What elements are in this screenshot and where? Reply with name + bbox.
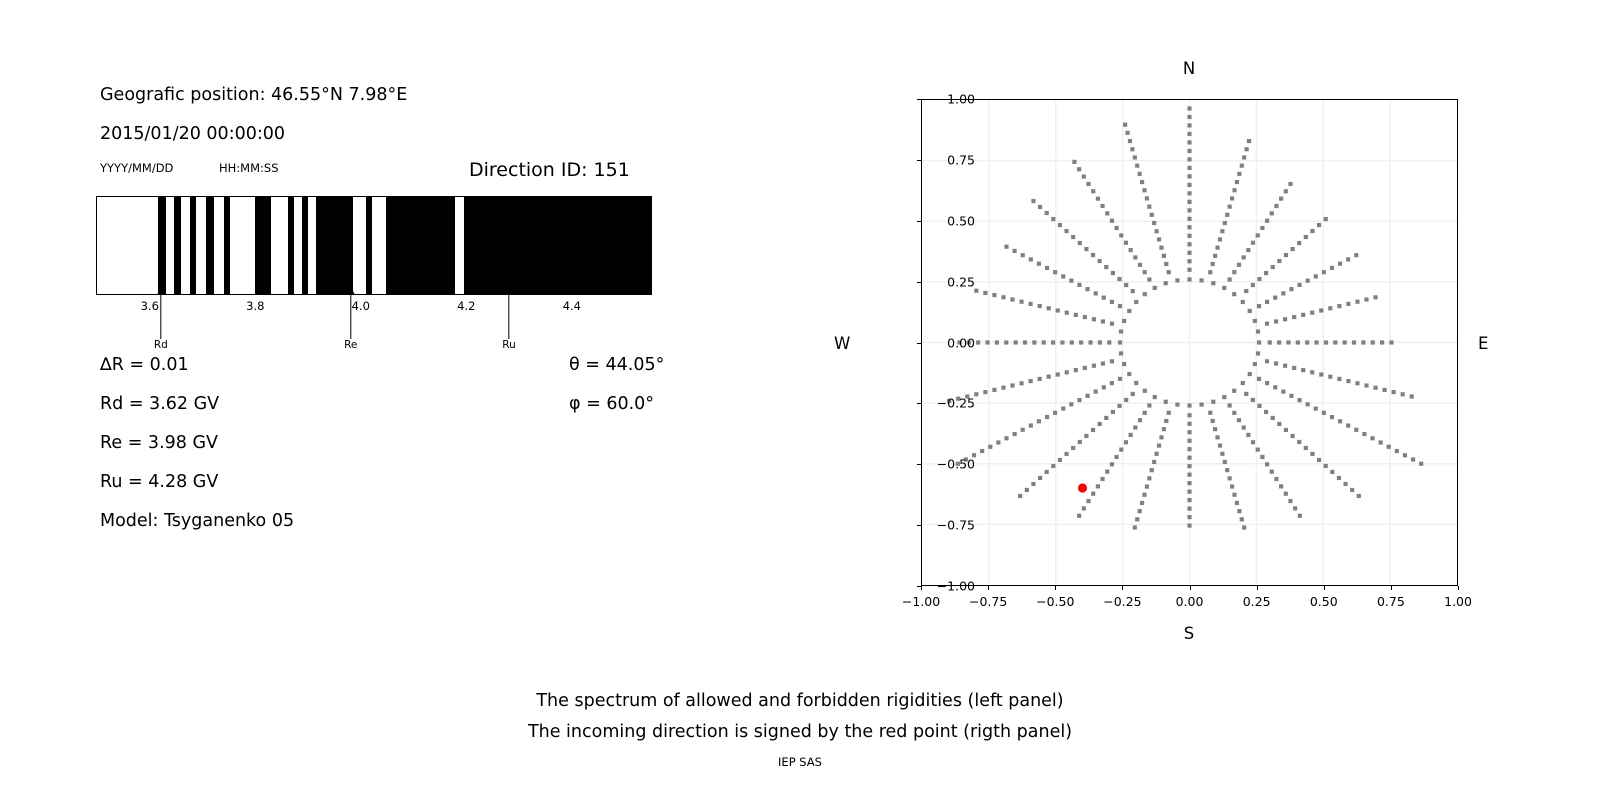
direction-y-tick-mark bbox=[917, 99, 921, 100]
direction-point bbox=[1157, 443, 1161, 447]
direction-point bbox=[1317, 458, 1321, 462]
direction-point bbox=[1389, 340, 1393, 344]
direction-point bbox=[1124, 440, 1128, 444]
direction-point bbox=[1240, 164, 1244, 168]
direction-point bbox=[1070, 340, 1074, 344]
direction-point bbox=[1257, 377, 1261, 381]
direction-y-tick-label: −0.25 bbox=[937, 396, 975, 411]
direction-point bbox=[1124, 283, 1128, 287]
direction-point bbox=[1038, 205, 1042, 209]
direction-point bbox=[1133, 255, 1137, 259]
direction-point bbox=[1138, 509, 1142, 513]
direction-point bbox=[1029, 257, 1033, 261]
direction-point bbox=[1021, 253, 1025, 257]
compass-east-label: E bbox=[1478, 334, 1488, 353]
direction-point bbox=[1228, 277, 1232, 281]
direction-point bbox=[1134, 300, 1138, 304]
direction-point bbox=[1131, 289, 1135, 293]
direction-point bbox=[1237, 418, 1241, 422]
direction-point bbox=[1215, 435, 1219, 439]
direction-point bbox=[1284, 428, 1288, 432]
direction-point bbox=[1031, 199, 1035, 203]
direction-point bbox=[1077, 514, 1081, 518]
direction-point bbox=[1164, 262, 1168, 266]
direction-x-tick-label: 0.75 bbox=[1377, 594, 1405, 609]
direction-x-tick-mark bbox=[988, 586, 989, 590]
direction-point bbox=[1297, 440, 1301, 444]
forbidden-band bbox=[158, 197, 166, 294]
direction-point bbox=[1237, 172, 1241, 176]
direction-point bbox=[1129, 248, 1133, 252]
direction-point bbox=[1098, 259, 1102, 263]
direction-point bbox=[1147, 476, 1151, 480]
direction-point bbox=[1056, 308, 1060, 312]
direction-point bbox=[1265, 300, 1269, 304]
direction-point bbox=[1018, 494, 1022, 498]
direction-point bbox=[1305, 340, 1309, 344]
direction-point bbox=[1042, 340, 1046, 344]
direction-y-tick-mark bbox=[917, 525, 921, 526]
direction-point bbox=[1218, 443, 1222, 447]
direction-point bbox=[1324, 340, 1328, 344]
direction-point bbox=[1187, 140, 1191, 144]
direction-x-tick-mark bbox=[1190, 586, 1191, 590]
rigidity-tick-label: 4.4 bbox=[563, 299, 581, 313]
direction-point bbox=[1270, 211, 1274, 215]
rigidity-tick-label: 4.0 bbox=[352, 299, 370, 313]
direction-point bbox=[1364, 383, 1368, 387]
direction-point bbox=[1286, 340, 1290, 344]
direction-point bbox=[1086, 182, 1090, 186]
param-delta-r: ∆R = 0.01 bbox=[100, 355, 189, 375]
direction-x-tick-label: −0.75 bbox=[969, 594, 1007, 609]
direction-point bbox=[1187, 217, 1191, 221]
marker-stem bbox=[350, 293, 351, 339]
direction-point bbox=[992, 293, 996, 297]
direction-point bbox=[1187, 174, 1191, 178]
direction-point bbox=[1051, 340, 1055, 344]
direction-point bbox=[1187, 200, 1191, 204]
param-rd: Rd = 3.62 GV bbox=[100, 394, 219, 414]
direction-point bbox=[1187, 481, 1191, 485]
direction-point bbox=[1187, 473, 1191, 477]
direction-x-tick-mark bbox=[1391, 586, 1392, 590]
direction-point bbox=[1110, 381, 1114, 385]
direction-point bbox=[1129, 433, 1133, 437]
direction-point bbox=[1014, 340, 1018, 344]
direction-point bbox=[1306, 402, 1310, 406]
direction-point bbox=[1138, 263, 1142, 267]
direction-point bbox=[1401, 392, 1405, 396]
direction-point bbox=[1124, 241, 1128, 245]
direction-point bbox=[1107, 340, 1111, 344]
footer-credit: IEP SAS bbox=[0, 755, 1600, 769]
direction-point bbox=[1333, 340, 1337, 344]
direction-point bbox=[1100, 204, 1104, 208]
direction-point bbox=[1187, 225, 1191, 229]
direction-point bbox=[1077, 283, 1081, 287]
direction-point bbox=[1208, 270, 1212, 274]
direction-point bbox=[1346, 423, 1350, 427]
direction-point bbox=[1038, 377, 1042, 381]
direction-point bbox=[1187, 456, 1191, 460]
direction-point bbox=[1079, 340, 1083, 344]
direction-point bbox=[1274, 204, 1278, 208]
direction-x-tick-label: −1.00 bbox=[902, 594, 940, 609]
direction-point bbox=[1297, 283, 1301, 287]
direction-point bbox=[1142, 188, 1146, 192]
marker-label: Rd bbox=[154, 339, 168, 351]
direction-point bbox=[1085, 287, 1089, 291]
param-ru: Ru = 4.28 GV bbox=[100, 472, 218, 492]
direction-point bbox=[1379, 440, 1383, 444]
direction-point bbox=[1274, 361, 1278, 365]
direction-point bbox=[1346, 257, 1350, 261]
rigidity-x-axis: 3.63.84.04.24.4RdReRu bbox=[96, 295, 654, 313]
direction-point bbox=[1310, 229, 1314, 233]
marker-label: Re bbox=[344, 339, 357, 351]
direction-point bbox=[1115, 226, 1119, 230]
direction-point bbox=[1138, 172, 1142, 176]
direction-point bbox=[1296, 340, 1300, 344]
rigidity-marker-re: Re bbox=[350, 287, 351, 347]
direction-point bbox=[1337, 377, 1341, 381]
direction-point bbox=[1143, 389, 1147, 393]
direction-point bbox=[1281, 390, 1285, 394]
direction-point bbox=[1240, 517, 1244, 521]
direction-point bbox=[1001, 295, 1005, 299]
direction-point bbox=[1013, 249, 1017, 253]
direction-point bbox=[1293, 506, 1297, 510]
direction-point bbox=[1283, 364, 1287, 368]
direction-point bbox=[1319, 372, 1323, 376]
direction-point bbox=[1119, 351, 1123, 355]
direction-point bbox=[995, 340, 999, 344]
direction-point bbox=[1111, 271, 1115, 275]
direction-point bbox=[1260, 455, 1264, 459]
direction-point bbox=[1004, 245, 1008, 249]
direction-point bbox=[1060, 340, 1064, 344]
forbidden-band bbox=[302, 197, 308, 294]
rigidity-bands-container bbox=[96, 196, 652, 295]
direction-point bbox=[1105, 470, 1109, 474]
direction-x-tick-mark bbox=[1458, 586, 1459, 590]
direction-point bbox=[1235, 180, 1239, 184]
direction-point bbox=[1145, 484, 1149, 488]
direction-point bbox=[1104, 265, 1108, 269]
direction-point bbox=[1277, 340, 1281, 344]
direction-point bbox=[992, 388, 996, 392]
direction-point bbox=[1395, 449, 1399, 453]
direction-point bbox=[1150, 468, 1154, 472]
direction-point bbox=[1314, 406, 1318, 410]
direction-point bbox=[1147, 205, 1151, 209]
direction-point bbox=[1058, 458, 1062, 462]
direction-point bbox=[1228, 476, 1232, 480]
direction-point bbox=[1125, 131, 1129, 135]
direction-point bbox=[1253, 319, 1257, 323]
direction-point bbox=[1228, 205, 1232, 209]
direction-point bbox=[1091, 428, 1095, 432]
direction-x-tick-mark bbox=[1257, 586, 1258, 590]
direction-y-tick-label: −1.00 bbox=[937, 579, 975, 594]
direction-point bbox=[1220, 229, 1224, 233]
direction-point bbox=[1032, 340, 1036, 344]
direction-point bbox=[1314, 340, 1318, 344]
forbidden-band bbox=[288, 197, 294, 294]
direction-x-tick-mark bbox=[1055, 586, 1056, 590]
direction-point bbox=[1247, 139, 1251, 143]
direction-point bbox=[1237, 509, 1241, 513]
direction-point bbox=[1288, 182, 1292, 186]
direction-point bbox=[1187, 523, 1191, 527]
direction-point bbox=[1105, 211, 1109, 215]
direction-point bbox=[1004, 436, 1008, 440]
direction-point bbox=[1187, 268, 1191, 272]
direction-point bbox=[1143, 270, 1147, 274]
compass-north-label: N bbox=[1183, 59, 1195, 78]
direction-point bbox=[1128, 139, 1132, 143]
direction-point bbox=[1208, 411, 1212, 415]
direction-point bbox=[1322, 270, 1326, 274]
direction-point bbox=[1131, 392, 1135, 396]
forbidden-band bbox=[316, 197, 353, 294]
direction-point bbox=[1257, 404, 1261, 408]
direction-point bbox=[1284, 189, 1288, 193]
compass-south-label: S bbox=[1184, 624, 1194, 643]
direction-point bbox=[1260, 226, 1264, 230]
direction-point bbox=[1225, 213, 1229, 217]
direction-point bbox=[1411, 457, 1415, 461]
direction-point bbox=[1138, 418, 1142, 422]
direction-point bbox=[1306, 279, 1310, 283]
direction-point bbox=[1277, 259, 1281, 263]
direction-point bbox=[1078, 440, 1082, 444]
direction-point bbox=[1157, 237, 1161, 241]
direction-point bbox=[1373, 295, 1377, 299]
direction-point bbox=[1127, 309, 1131, 313]
geographic-position: Geografic position: 46.55°N 7.98°E bbox=[100, 85, 407, 105]
direction-point bbox=[1279, 197, 1283, 201]
direction-point bbox=[1118, 377, 1122, 381]
direction-point bbox=[1304, 235, 1308, 239]
direction-point bbox=[1119, 448, 1123, 452]
direction-point bbox=[1187, 251, 1191, 255]
direction-y-tick-mark bbox=[917, 343, 921, 344]
param-phi: φ = 60.0° bbox=[569, 394, 654, 414]
direction-point bbox=[1273, 385, 1277, 389]
direction-point bbox=[1175, 403, 1179, 407]
direction-point bbox=[1045, 266, 1049, 270]
direction-point bbox=[1069, 402, 1073, 406]
direction-point bbox=[1101, 319, 1105, 323]
direction-x-tick-mark bbox=[921, 586, 922, 590]
direction-point bbox=[1211, 281, 1215, 285]
direction-point bbox=[1301, 313, 1305, 317]
direction-point bbox=[1152, 221, 1156, 225]
direction-point bbox=[1143, 411, 1147, 415]
direction-point bbox=[1284, 253, 1288, 257]
direction-point bbox=[1053, 411, 1057, 415]
direction-point bbox=[1118, 340, 1122, 344]
direction-y-tick-label: 0.25 bbox=[947, 274, 975, 289]
direction-point bbox=[1119, 233, 1123, 237]
direction-point bbox=[1110, 322, 1114, 326]
direction-point bbox=[1038, 476, 1042, 480]
direction-point bbox=[1215, 246, 1219, 250]
direction-point bbox=[1230, 196, 1234, 200]
direction-point bbox=[1355, 381, 1359, 385]
direction-point bbox=[988, 445, 992, 449]
direction-point bbox=[1187, 115, 1191, 119]
direction-point bbox=[1310, 452, 1314, 456]
direction-point bbox=[1350, 488, 1354, 492]
direction-point bbox=[1284, 492, 1288, 496]
direction-point bbox=[1324, 464, 1328, 468]
direction-point bbox=[1029, 423, 1033, 427]
direction-point bbox=[1218, 237, 1222, 241]
direction-point bbox=[1064, 452, 1068, 456]
direction-point bbox=[1242, 425, 1246, 429]
direction-point bbox=[1256, 448, 1260, 452]
direction-point bbox=[1133, 525, 1137, 529]
direction-point bbox=[1322, 411, 1326, 415]
direction-point bbox=[1223, 460, 1227, 464]
direction-point bbox=[1251, 283, 1255, 287]
direction-y-tick-label: 1.00 bbox=[947, 92, 975, 107]
forbidden-band bbox=[366, 197, 372, 294]
direction-point bbox=[1187, 498, 1191, 502]
direction-point bbox=[1248, 309, 1252, 313]
direction-point bbox=[1330, 470, 1334, 474]
direction-point bbox=[1115, 455, 1119, 459]
direction-point bbox=[1135, 164, 1139, 168]
direction-point bbox=[1242, 255, 1246, 259]
direction-point bbox=[1077, 167, 1081, 171]
direction-point bbox=[1257, 340, 1261, 344]
direction-point bbox=[1187, 490, 1191, 494]
direction-y-tick-label: 0.00 bbox=[947, 335, 975, 350]
direction-point bbox=[1211, 262, 1215, 266]
direction-point bbox=[1357, 494, 1361, 498]
direction-point bbox=[1045, 470, 1049, 474]
direction-point bbox=[1021, 428, 1025, 432]
direction-point bbox=[1264, 410, 1268, 414]
direction-point bbox=[1211, 419, 1215, 423]
direction-plot-frame bbox=[921, 99, 1458, 586]
direction-point bbox=[1246, 433, 1250, 437]
direction-point bbox=[1010, 383, 1014, 387]
direction-point bbox=[1037, 419, 1041, 423]
direction-point bbox=[1058, 223, 1062, 227]
direction-point bbox=[1289, 394, 1293, 398]
forbidden-band bbox=[190, 197, 196, 294]
direction-point bbox=[1265, 322, 1269, 326]
direction-point bbox=[1153, 286, 1157, 290]
direction-point bbox=[1155, 229, 1159, 233]
direction-point bbox=[1098, 422, 1102, 426]
direction-point bbox=[1123, 123, 1127, 127]
direction-x-tick-label: 0.00 bbox=[1176, 594, 1204, 609]
direction-point bbox=[1083, 366, 1087, 370]
direction-y-tick-mark bbox=[917, 403, 921, 404]
direction-point bbox=[1290, 434, 1294, 438]
direction-x-tick-mark bbox=[1122, 586, 1123, 590]
direction-point bbox=[1187, 439, 1191, 443]
direction-point bbox=[1091, 253, 1095, 257]
direction-point bbox=[1187, 515, 1191, 519]
direction-point bbox=[1338, 419, 1342, 423]
direction-point bbox=[1086, 499, 1090, 503]
direction-point bbox=[1298, 514, 1302, 518]
direction-point bbox=[1338, 262, 1342, 266]
direction-point bbox=[1387, 445, 1391, 449]
direction-point bbox=[1045, 211, 1049, 215]
direction-x-tick-label: 0.25 bbox=[1243, 594, 1271, 609]
direction-point bbox=[1228, 403, 1232, 407]
direction-y-tick-mark bbox=[917, 282, 921, 283]
direction-point bbox=[1242, 155, 1246, 159]
direction-point bbox=[1241, 300, 1245, 304]
direction-point bbox=[1355, 300, 1359, 304]
direction-point bbox=[1232, 292, 1236, 296]
direction-point bbox=[1051, 217, 1055, 221]
rigidity-tick-label: 3.8 bbox=[246, 299, 264, 313]
direction-point bbox=[1083, 315, 1087, 319]
marker-arrowhead bbox=[157, 287, 165, 295]
direction-point bbox=[1019, 300, 1023, 304]
direction-point bbox=[1078, 241, 1082, 245]
direction-point bbox=[1101, 361, 1105, 365]
direction-point bbox=[1091, 189, 1095, 193]
direction-point bbox=[1328, 375, 1332, 379]
direction-point bbox=[1061, 274, 1065, 278]
direction-point bbox=[1077, 398, 1081, 402]
direction-point bbox=[1346, 379, 1350, 383]
direction-point bbox=[1004, 340, 1008, 344]
direction-id-label: Direction ID: 151 bbox=[469, 159, 630, 181]
direction-point bbox=[1410, 394, 1414, 398]
forbidden-band bbox=[206, 197, 214, 294]
direction-point bbox=[1257, 304, 1261, 308]
direction-point bbox=[1268, 340, 1272, 344]
direction-point bbox=[1330, 266, 1334, 270]
direction-point bbox=[1143, 292, 1147, 296]
direction-point bbox=[1187, 259, 1191, 263]
direction-point bbox=[1289, 287, 1293, 291]
direction-point bbox=[1175, 278, 1179, 282]
marker-arrowhead bbox=[347, 287, 355, 295]
direction-point bbox=[1023, 340, 1027, 344]
direction-point bbox=[1337, 304, 1341, 308]
direction-point bbox=[1065, 370, 1069, 374]
direction-point bbox=[1140, 180, 1144, 184]
direction-point bbox=[1047, 375, 1051, 379]
direction-point bbox=[1082, 506, 1086, 510]
direction-point bbox=[1225, 468, 1229, 472]
direction-point bbox=[1256, 233, 1260, 237]
direction-point bbox=[1292, 366, 1296, 370]
direction-point bbox=[1337, 476, 1341, 480]
direction-point bbox=[1010, 297, 1014, 301]
direction-point bbox=[1235, 501, 1239, 505]
direction-y-tick-label: −0.75 bbox=[937, 518, 975, 533]
direction-point bbox=[1096, 197, 1100, 201]
direction-point bbox=[1187, 430, 1191, 434]
direction-point bbox=[1031, 482, 1035, 486]
marker-label: Ru bbox=[502, 339, 515, 351]
direction-point bbox=[1265, 219, 1269, 223]
